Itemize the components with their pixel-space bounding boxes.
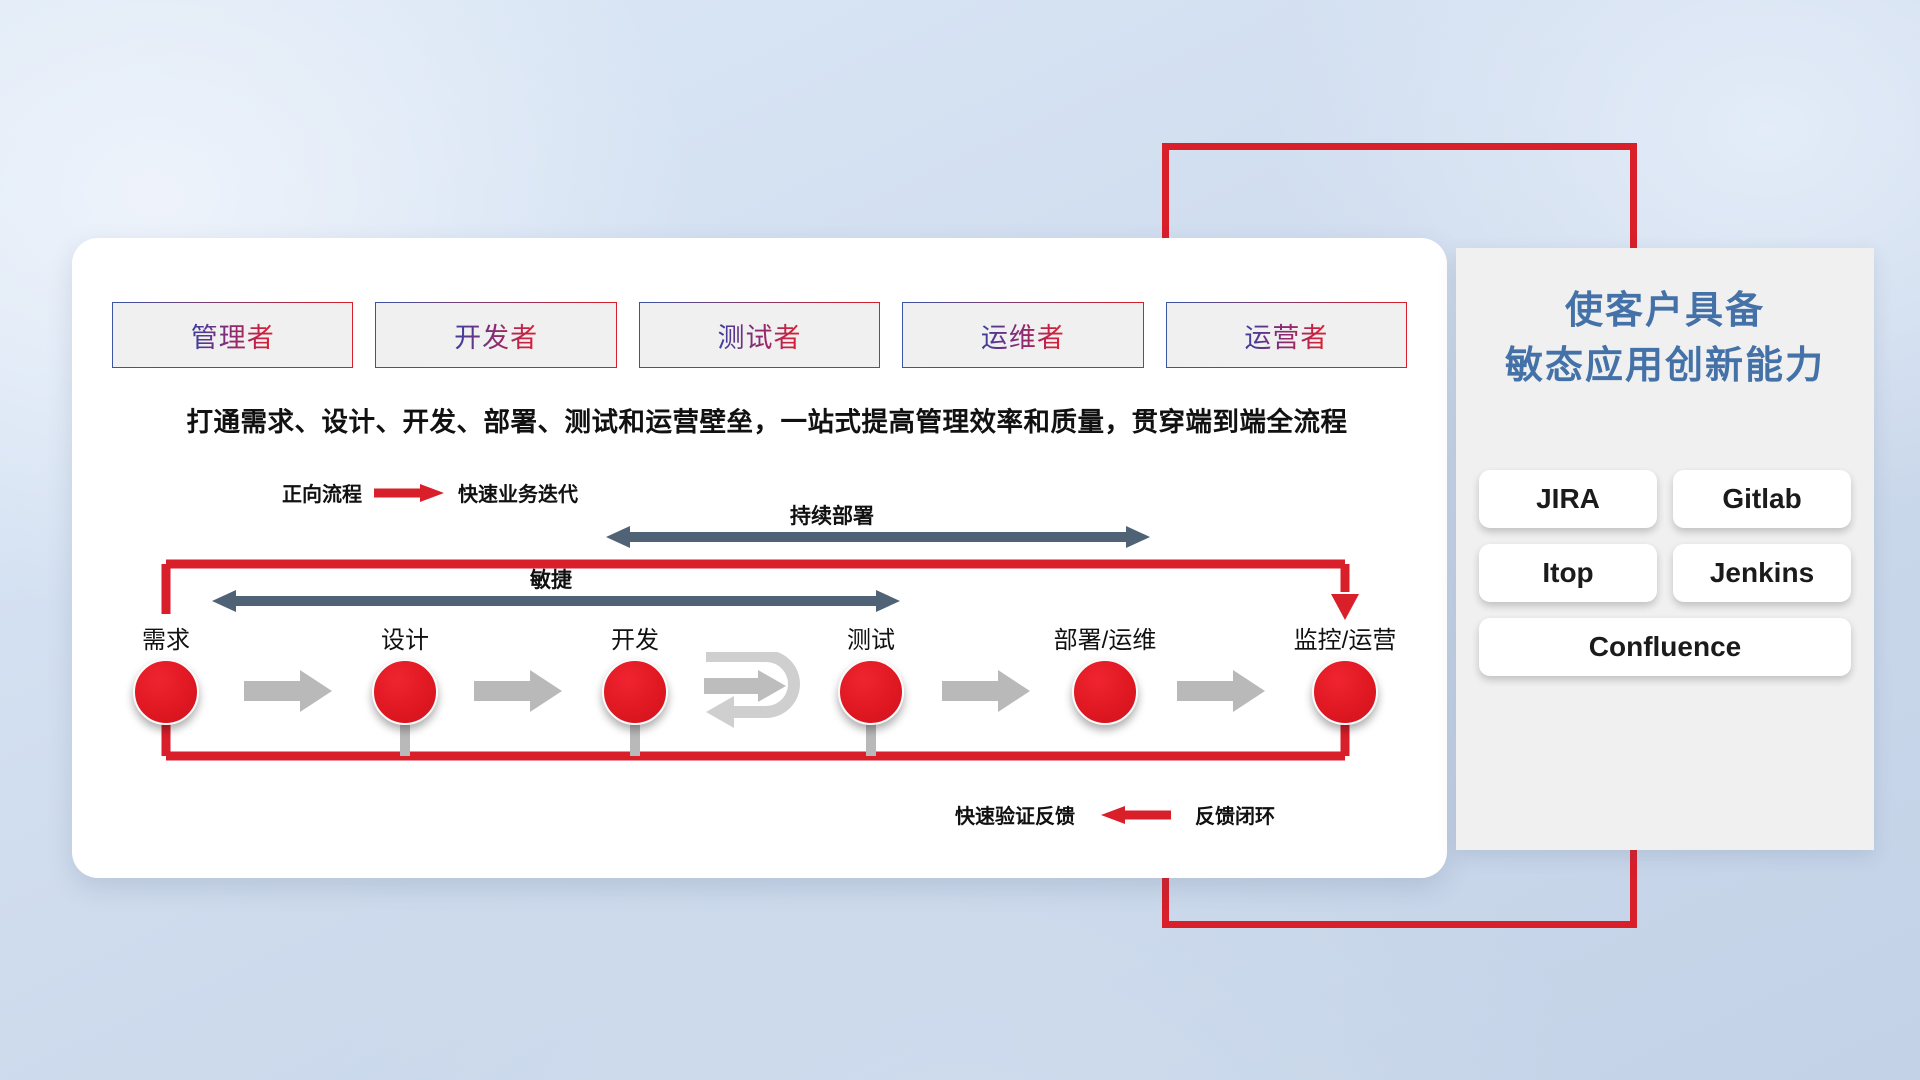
stage-label: 开发 bbox=[560, 620, 710, 655]
legend-forward-flow: 正向流程 快速业务迭代 bbox=[282, 478, 578, 507]
stage-arrow-loop-develop-test bbox=[700, 652, 810, 730]
tool-label: Jenkins bbox=[1710, 557, 1814, 589]
stage-dot bbox=[1312, 659, 1378, 725]
tool-label: JIRA bbox=[1536, 483, 1600, 515]
role-label: 运维者 bbox=[981, 316, 1065, 355]
stage-arrow-0 bbox=[242, 668, 334, 714]
continuous-deploy-double-arrow bbox=[604, 524, 1152, 550]
legend-feedback-right-label: 反馈闭环 bbox=[1195, 800, 1275, 829]
tool-chip-itop[interactable]: Itop bbox=[1479, 544, 1657, 602]
role-label: 测试者 bbox=[718, 316, 802, 355]
tool-chip-confluence[interactable]: Confluence bbox=[1479, 618, 1851, 676]
stage-dot bbox=[133, 659, 199, 725]
role-label: 开发者 bbox=[454, 316, 538, 355]
panel-title-line2: 敏态应用创新能力 bbox=[1505, 345, 1825, 387]
tool-chip-jira[interactable]: JIRA bbox=[1479, 470, 1657, 528]
role-box-4[interactable]: 运营者 bbox=[1166, 302, 1407, 368]
legend-forward-left-label: 正向流程 bbox=[282, 478, 362, 507]
tool-list: JIRA Gitlab Itop Jenkins Confluence bbox=[1466, 470, 1864, 676]
stage-label: 部署/运维 bbox=[1030, 620, 1180, 655]
tool-label: Gitlab bbox=[1722, 483, 1801, 515]
stage-dot bbox=[838, 659, 904, 725]
tool-label: Itop bbox=[1542, 557, 1593, 589]
description-text: 打通需求、设计、开发、部署、测试和运营壁垒，一站式提高管理效率和质量，贯穿端到端… bbox=[122, 400, 1412, 439]
stage-1[interactable]: 设计 bbox=[330, 620, 480, 725]
stage-label: 需求 bbox=[91, 620, 241, 655]
stage-dot bbox=[372, 659, 438, 725]
stage-dot bbox=[602, 659, 668, 725]
stage-3[interactable]: 测试 bbox=[796, 620, 946, 725]
role-box-2[interactable]: 测试者 bbox=[639, 302, 880, 368]
panel-title: 使客户具备 敏态应用创新能力 bbox=[1456, 248, 1874, 394]
role-label: 管理者 bbox=[191, 316, 275, 355]
role-box-0[interactable]: 管理者 bbox=[112, 302, 353, 368]
panel-title-line1: 使客户具备 bbox=[1565, 290, 1765, 332]
legend-feedback-loop: 快速验证反馈 反馈闭环 bbox=[955, 800, 1275, 829]
stage-label: 监控/运营 bbox=[1270, 620, 1420, 655]
stage-5[interactable]: 监控/运营 bbox=[1270, 620, 1420, 725]
tool-chip-jenkins[interactable]: Jenkins bbox=[1673, 544, 1851, 602]
role-box-3[interactable]: 运维者 bbox=[902, 302, 1143, 368]
stage-arrow-2 bbox=[940, 668, 1032, 714]
slide-canvas: 管理者 开发者 测试者 运维者 运营者 打通需求、设计、开发、部署、测试和运营壁… bbox=[0, 0, 1920, 1080]
stage-arrow-1 bbox=[472, 668, 564, 714]
stage-label: 设计 bbox=[330, 620, 480, 655]
value-panel: 使客户具备 敏态应用创新能力 JIRA Gitlab Itop Jenkins … bbox=[1456, 248, 1874, 850]
stage-4[interactable]: 部署/运维 bbox=[1030, 620, 1180, 725]
stage-dot bbox=[1072, 659, 1138, 725]
stage-label: 测试 bbox=[796, 620, 946, 655]
stage-arrow-3 bbox=[1175, 668, 1267, 714]
arrow-right-icon bbox=[372, 482, 448, 504]
arrow-left-icon bbox=[1097, 804, 1173, 826]
legend-feedback-left-label: 快速验证反馈 bbox=[955, 800, 1075, 829]
stage-0[interactable]: 需求 bbox=[91, 620, 241, 725]
role-label: 运营者 bbox=[1244, 316, 1328, 355]
role-box-1[interactable]: 开发者 bbox=[375, 302, 616, 368]
stage-2[interactable]: 开发 bbox=[560, 620, 710, 725]
tool-chip-gitlab[interactable]: Gitlab bbox=[1673, 470, 1851, 528]
legend-forward-right-label: 快速业务迭代 bbox=[458, 478, 578, 507]
role-box-row: 管理者 开发者 测试者 运维者 运营者 bbox=[112, 302, 1407, 368]
tool-label: Confluence bbox=[1589, 631, 1741, 663]
